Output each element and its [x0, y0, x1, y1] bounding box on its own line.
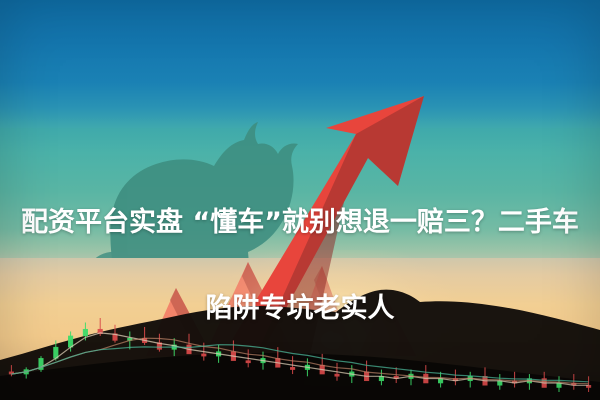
promo-banner-image: 配资平台实盘 “懂车”就别想退一赔三？二手车 陷阱专坑老实人 — [0, 0, 600, 400]
headline-text: 配资平台实盘 “懂车”就别想退一赔三？二手车 陷阱专坑老实人 — [0, 158, 600, 373]
headline-line-2: 陷阱专坑老实人 — [0, 287, 600, 330]
headline-line-1: 配资平台实盘 “懂车”就别想退一赔三？二手车 — [0, 201, 600, 244]
